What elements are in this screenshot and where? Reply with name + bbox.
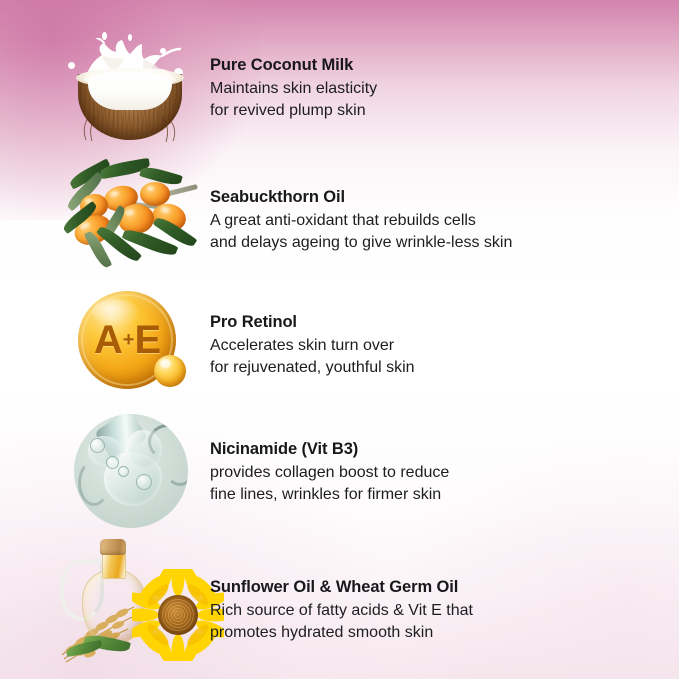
berry (140, 182, 170, 206)
milk-droplet (160, 48, 166, 54)
ingredient-desc-line1: Maintains skin elasticity (210, 78, 679, 99)
ingredient-desc-line1: A great anti-oxidant that rebuilds cells (210, 210, 679, 231)
gel-arc (166, 458, 188, 486)
ingredient-title: Pure Coconut Milk (210, 55, 679, 76)
nicinamide-copy: Nicinamide (Vit B3) provides collagen bo… (210, 439, 679, 505)
sunflower-wheat-germ-copy: Sunflower Oil & Wheat Germ Oil Rich sour… (210, 577, 679, 643)
niacinamide-gel-circle-icon (0, 412, 210, 532)
cork-stopper (100, 539, 126, 555)
ingredient-row-pro-retinol: A+E Pro Retinol Accelerates skin turn ov… (0, 285, 679, 405)
ingredients-infographic: Pure Coconut Milk Maintains skin elastic… (0, 0, 679, 679)
sunflower-oil-carafe-icon (0, 545, 210, 675)
vitamin-e-letter: E (134, 320, 160, 360)
coconut-milk-copy: Pure Coconut Milk Maintains skin elastic… (210, 55, 679, 121)
bubble (90, 438, 105, 453)
vitamin-a-letter: A (94, 320, 122, 360)
ingredient-desc-line2: fine lines, wrinkles for firmer skin (210, 484, 679, 505)
coconut-milk-splash-icon (0, 28, 210, 148)
bubble (106, 456, 119, 469)
milk-droplet (102, 32, 107, 40)
ingredient-desc-line1: Rich source of fatty acids & Vit E that (210, 600, 679, 621)
ingredient-row-sunflower-wheat-germ-oil: Sunflower Oil & Wheat Germ Oil Rich sour… (0, 545, 679, 675)
ingredient-desc-line2: for revived plump skin (210, 100, 679, 121)
pro-retinol-copy: Pro Retinol Accelerates skin turn over f… (210, 312, 679, 378)
gel-arc (78, 460, 110, 506)
ingredient-row-nicinamide: Nicinamide (Vit B3) provides collagen bo… (0, 412, 679, 532)
coconut-milk-pool (88, 72, 172, 110)
ingredient-title: Sunflower Oil & Wheat Germ Oil (210, 577, 679, 598)
ingredient-desc-line2: for rejuvenated, youthful skin (210, 357, 679, 378)
bubble (136, 474, 152, 490)
seabuckthorn-berries-icon (0, 160, 210, 280)
ingredient-title: Seabuckthorn Oil (210, 187, 679, 208)
gel-arc (148, 424, 188, 460)
mint-circle (74, 414, 188, 528)
milk-droplet (128, 34, 132, 41)
ingredient-desc-line2: promotes hydrated smooth skin (210, 622, 679, 643)
ingredient-row-coconut-milk: Pure Coconut Milk Maintains skin elastic… (0, 28, 679, 148)
carafe-neck (102, 551, 126, 579)
bubble (118, 466, 129, 477)
milk-droplet (68, 62, 75, 69)
ingredient-desc-line1: Accelerates skin turn over (210, 335, 679, 356)
ingredient-desc-line2: and delays ageing to give wrinkle-less s… (210, 232, 679, 253)
ingredient-row-seabuckthorn-oil: Seabuckthorn Oil A great anti-oxidant th… (0, 160, 679, 280)
ingredient-title: Pro Retinol (210, 312, 679, 333)
vitamin-a-plus-e-droplet-icon: A+E (0, 285, 210, 405)
ingredient-desc-line1: provides collagen boost to reduce (210, 462, 679, 483)
sunflower-seed-head (158, 595, 198, 635)
seabuckthorn-oil-copy: Seabuckthorn Oil A great anti-oxidant th… (210, 187, 679, 253)
plus-sign: + (122, 330, 135, 350)
coconut-husk-fibers (82, 114, 178, 144)
small-oil-droplet (154, 355, 186, 387)
ingredient-title: Nicinamide (Vit B3) (210, 439, 679, 460)
